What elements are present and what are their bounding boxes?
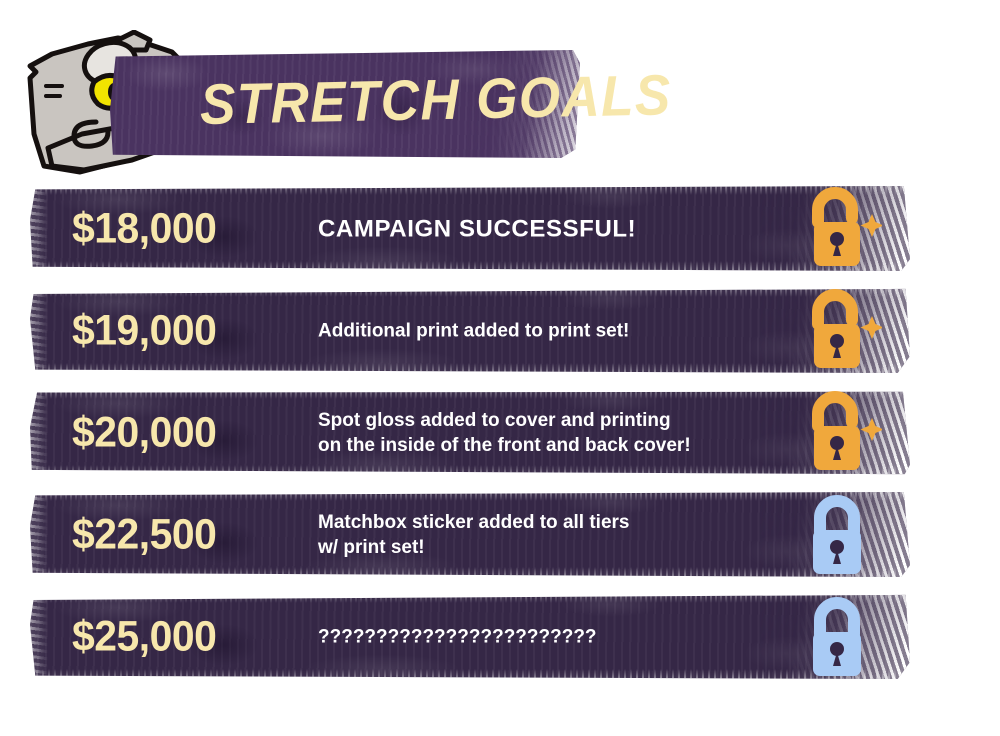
lock-icon (792, 492, 882, 578)
stretch-goal-row: $19,000 Additional print added to print … (0, 288, 1000, 373)
stretch-goal-row: $25,000 ???????????????????????? (0, 594, 1000, 679)
bar-edge-top (30, 288, 910, 297)
goal-description-line: w/ print set! (318, 535, 748, 560)
goal-amount: $25,000 (72, 612, 216, 661)
goal-description: CAMPAIGN SUCCESSFUL! (318, 216, 748, 241)
goal-description-line: on the inside of the front and back cove… (318, 433, 748, 458)
unlock-icon (792, 186, 882, 272)
bar-edge-bottom (30, 261, 910, 271)
bar-edge-bottom (30, 567, 910, 577)
bar-edge-left (30, 288, 48, 373)
stretch-goal-row: $18,000 CAMPAIGN SUCCESSFUL! (0, 186, 1000, 271)
goal-description: Spot gloss added to cover and printing o… (318, 408, 748, 458)
bar-edge-left (30, 186, 48, 271)
goal-description-line: Additional print added to print set! (318, 318, 748, 343)
goal-amount: $20,000 (72, 408, 216, 457)
goal-description-line: Matchbox sticker added to all tiers (318, 510, 748, 535)
goal-description-line: ???????????????????????? (318, 624, 748, 649)
goal-amount: $18,000 (72, 204, 216, 253)
stretch-goals-list: $18,000 CAMPAIGN SUCCESSFUL! $19,000 Add… (0, 186, 1000, 696)
goal-amount: $22,500 (72, 510, 216, 559)
unlock-icon (792, 288, 882, 374)
bar-edge-bottom (30, 465, 910, 475)
stretch-goal-row: $20,000 Spot gloss added to cover and pr… (0, 390, 1000, 475)
bar-edge-left (30, 492, 48, 577)
header: STRETCH GOALS (0, 0, 1000, 180)
bar-edge-top (30, 492, 910, 501)
goal-description: Additional print added to print set! (318, 318, 748, 343)
goal-description: Matchbox sticker added to all tiers w/ p… (318, 510, 748, 560)
goal-amount: $19,000 (72, 306, 216, 355)
bar-edge-top (30, 390, 910, 399)
bar-edge-bottom (30, 363, 910, 373)
goal-description-line: Spot gloss added to cover and printing (318, 408, 748, 433)
goal-description-line: CAMPAIGN SUCCESSFUL! (318, 216, 748, 241)
bar-edge-left (30, 594, 48, 679)
stretch-goal-row: $22,500 Matchbox sticker added to all ti… (0, 492, 1000, 577)
bar-edge-top (30, 594, 910, 603)
page-title: STRETCH GOALS (199, 63, 544, 140)
bar-edge-top (30, 186, 910, 195)
bar-edge-bottom (30, 669, 910, 679)
lock-icon (792, 594, 882, 680)
bar-edge-left (30, 390, 48, 475)
unlock-icon (792, 390, 882, 476)
goal-description: ???????????????????????? (318, 624, 748, 649)
